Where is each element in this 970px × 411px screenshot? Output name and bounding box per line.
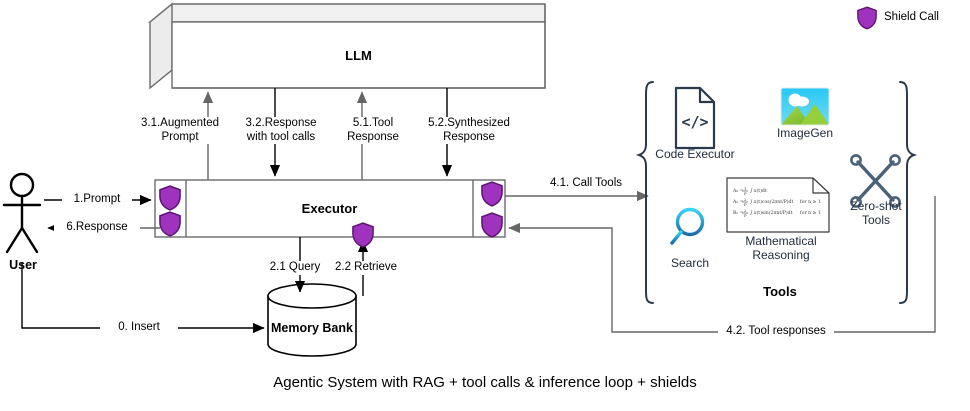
shield-icon-exec-right-top bbox=[482, 182, 502, 206]
svg-text:A₀ =: A₀ = bbox=[732, 188, 744, 194]
magnifier-icon bbox=[672, 210, 703, 244]
svg-text:for n ≥ 1: for n ≥ 1 bbox=[800, 199, 821, 205]
memory-bank-node-shape bbox=[268, 284, 356, 356]
edge-label-4-2-tool-responses: 4.2. Tool responses bbox=[718, 325, 834, 339]
edge-label-0-insert: 0. Insert bbox=[100, 321, 178, 335]
shield-icon-exec-left-bottom bbox=[160, 212, 180, 236]
edge-label-5-2: 5.2.Synthesized Response bbox=[422, 117, 516, 144]
svg-text:Bₙ =: Bₙ = bbox=[733, 210, 744, 216]
code-document-icon: </> bbox=[676, 88, 714, 148]
edge-label-2-1-query: 2.1 Query bbox=[264, 261, 326, 275]
svg-text:P: P bbox=[744, 213, 747, 218]
tool-label-code-executor: Code Executor bbox=[650, 147, 740, 161]
llm-node-label: LLM bbox=[172, 48, 545, 63]
user-actor-icon bbox=[4, 174, 40, 252]
shield-icon-exec-bottom bbox=[353, 223, 373, 247]
llm-node-shape bbox=[150, 4, 545, 88]
svg-text:∫ x(t)cos(2πnt/P)dt: ∫ x(t)cos(2πnt/P)dt bbox=[750, 198, 793, 205]
svg-text:∫ x(t)dt: ∫ x(t)dt bbox=[750, 187, 767, 194]
svg-text:2: 2 bbox=[744, 197, 747, 202]
svg-text:P: P bbox=[744, 191, 747, 196]
tools-left-brace bbox=[639, 82, 653, 303]
legend-shield-call-label: Shield Call bbox=[884, 11, 939, 23]
shield-icon-legend bbox=[858, 7, 876, 29]
svg-text:∫ x(t)sin(2πnt/P)dt: ∫ x(t)sin(2πnt/P)dt bbox=[750, 209, 793, 216]
executor-node-label: Executor bbox=[186, 201, 473, 216]
edge-0-insert bbox=[22, 262, 264, 328]
tool-label-search: Search bbox=[659, 256, 721, 270]
diagram-caption: Agentic System with RAG + tool calls & i… bbox=[0, 374, 970, 391]
shield-icon-exec-left-top bbox=[160, 186, 180, 210]
image-icon bbox=[781, 88, 829, 125]
tool-label-zero-shot-tools: Zero-shot Tools bbox=[838, 199, 914, 227]
user-actor-label: User bbox=[0, 258, 46, 272]
edge-label-3-2: 3.2.Response with tool calls bbox=[237, 117, 325, 144]
svg-text:Aₙ =: Aₙ = bbox=[732, 199, 744, 205]
svg-text:2: 2 bbox=[744, 208, 747, 213]
shield-icon-exec-right-bottom bbox=[482, 213, 502, 237]
math-document-icon: A₀ = 1P ∫ x(t)dt Aₙ = 2P ∫ x(t)cos(2πnt/… bbox=[727, 178, 829, 232]
edge-label-1-prompt: 1.Prompt bbox=[62, 193, 132, 207]
svg-text:P: P bbox=[744, 202, 747, 207]
tool-label-mathematical-reasoning: Mathematical Reasoning bbox=[736, 234, 826, 262]
edge-label-6-response: 6.Response bbox=[54, 221, 140, 235]
svg-text:for n ≥ 1: for n ≥ 1 bbox=[800, 210, 821, 216]
tools-right-brace bbox=[900, 82, 914, 303]
tools-group-label: Tools bbox=[730, 284, 830, 299]
diagram-canvas: </> A₀ = 1P ∫ x(t)dt Aₙ = 2P ∫ x(t)cos(2… bbox=[0, 0, 970, 411]
edge-label-4-1-call-tools: 4.1. Call Tools bbox=[540, 177, 632, 191]
memory-bank-node-label: Memory Bank bbox=[258, 321, 366, 335]
edge-label-5-1: 5.1.Tool Response bbox=[340, 117, 406, 144]
edge-label-2-2-retrieve: 2.2 Retrieve bbox=[328, 261, 404, 275]
svg-text:1: 1 bbox=[744, 186, 747, 191]
edge-label-3-1: 3.1.Augmented Prompt bbox=[140, 117, 220, 144]
tool-label-imagegen: ImageGen bbox=[768, 126, 842, 140]
svg-text:</>: </> bbox=[681, 113, 708, 131]
